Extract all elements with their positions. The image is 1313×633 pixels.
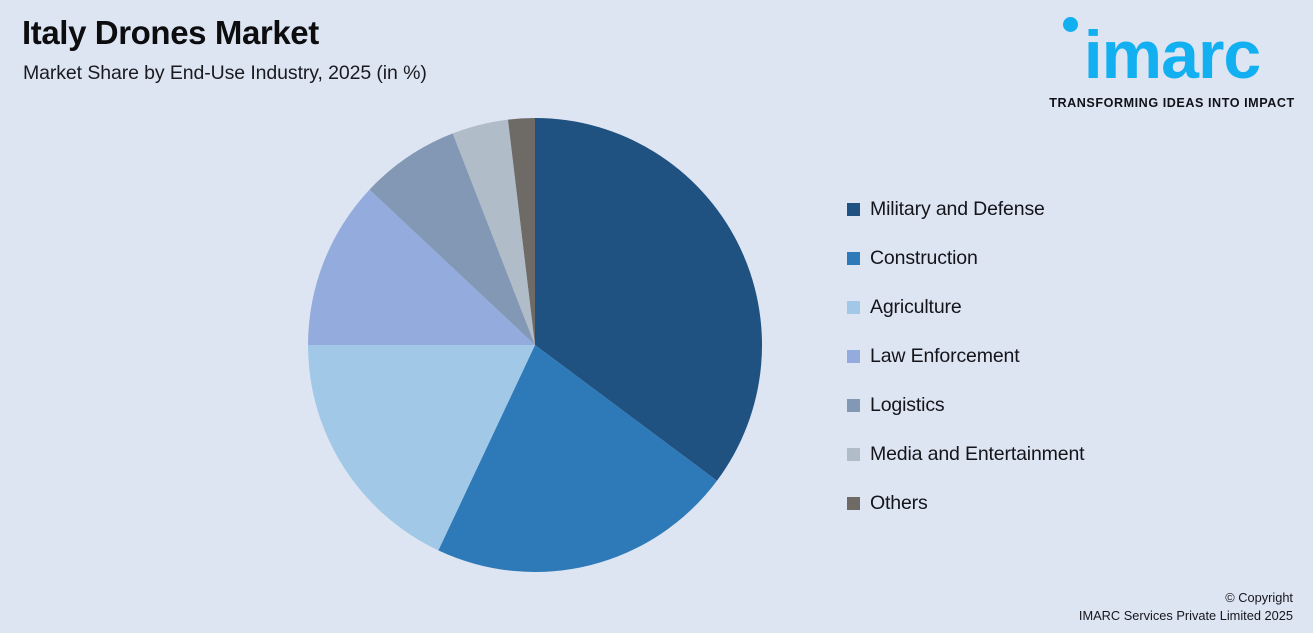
legend-item-label: Others xyxy=(870,492,928,515)
chart-header: Italy Drones Market Market Share by End-… xyxy=(0,0,1313,118)
pie-chart xyxy=(308,118,762,572)
logo-wordmark: imarc xyxy=(1039,24,1305,86)
copyright-footer: © Copyright IMARC Services Private Limit… xyxy=(873,589,1293,625)
legend-item[interactable]: Law Enforcement xyxy=(847,332,1267,381)
copyright-line-1: © Copyright xyxy=(873,589,1293,607)
legend-item-label: Agriculture xyxy=(870,296,962,319)
legend-item[interactable]: Military and Defense xyxy=(847,185,1267,234)
legend-item-label: Law Enforcement xyxy=(870,345,1020,368)
legend-item[interactable]: Others xyxy=(847,479,1267,528)
legend-swatch-icon xyxy=(847,399,860,412)
page-subtitle: Market Share by End-Use Industry, 2025 (… xyxy=(23,62,427,85)
legend-item-label: Media and Entertainment xyxy=(870,443,1084,466)
legend-swatch-icon xyxy=(847,448,860,461)
legend-swatch-icon xyxy=(847,350,860,363)
chart-legend: Military and DefenseConstructionAgricult… xyxy=(847,185,1267,528)
legend-item-label: Military and Defense xyxy=(870,198,1045,221)
logo-tagline: TRANSFORMING IDEAS INTO IMPACT xyxy=(1039,96,1305,110)
legend-item[interactable]: Construction xyxy=(847,234,1267,283)
legend-item-label: Construction xyxy=(870,247,978,270)
legend-item-label: Logistics xyxy=(870,394,945,417)
pie-chart-svg xyxy=(308,118,762,572)
page-title: Italy Drones Market xyxy=(22,14,319,52)
legend-swatch-icon xyxy=(847,203,860,216)
pie-slice-group xyxy=(308,118,762,572)
imarc-logo: imarc TRANSFORMING IDEAS INTO IMPACT xyxy=(1039,8,1305,116)
legend-swatch-icon xyxy=(847,497,860,510)
legend-item[interactable]: Media and Entertainment xyxy=(847,430,1267,479)
legend-swatch-icon xyxy=(847,252,860,265)
legend-item[interactable]: Agriculture xyxy=(847,283,1267,332)
copyright-line-2: IMARC Services Private Limited 2025 xyxy=(873,607,1293,625)
legend-item[interactable]: Logistics xyxy=(847,381,1267,430)
legend-swatch-icon xyxy=(847,301,860,314)
